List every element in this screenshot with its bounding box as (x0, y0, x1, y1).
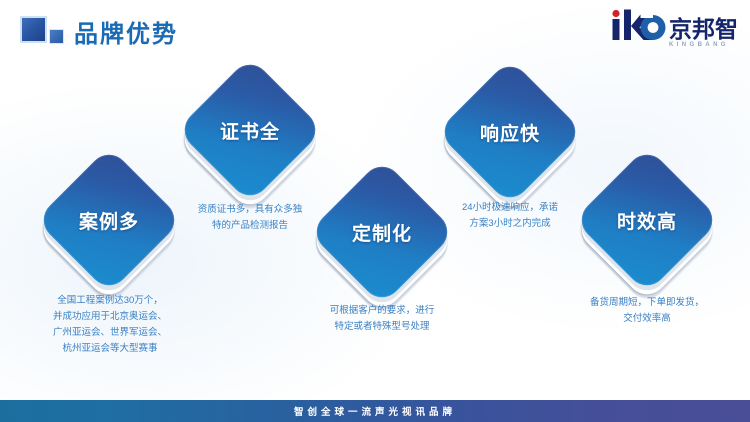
decor-square-small-icon (49, 29, 64, 44)
logo-name-cn: 京邦智 (669, 18, 738, 41)
footer-slogan: 智创全球一流声光视讯品牌 (294, 404, 456, 418)
card-label: 证书全 (198, 78, 302, 182)
brand-logo: 京邦智 KINGBANG (607, 14, 738, 48)
card-description: 可根据客户的要求，进行 特定或者特殊型号处理 (282, 303, 482, 335)
logo-name-en: KINGBANG (669, 42, 729, 48)
feature-card-delivery[interactable]: 时效高 (595, 168, 699, 272)
feature-card-certificates[interactable]: 证书全 (198, 78, 302, 182)
decor-square-large-icon (20, 16, 47, 43)
diamond-shape: 定制化 (330, 180, 434, 284)
logo-kb-icon (607, 9, 667, 41)
page-header: 品牌优势 京邦智 KINGBANG (0, 0, 750, 62)
page-title: 品牌优势 (74, 14, 178, 49)
diamond-shape: 证书全 (198, 78, 302, 182)
card-description: 24小时极速响应，承诺 方案3小时之内完成 (410, 200, 610, 232)
card-label: 时效高 (595, 168, 699, 272)
diamond-shape: 案例多 (57, 168, 161, 272)
feature-card-customization[interactable]: 定制化 (330, 180, 434, 284)
footer-bar: 智创全球一流声光视讯品牌 (0, 400, 750, 422)
feature-card-response[interactable]: 响应快 (458, 80, 562, 184)
card-label: 定制化 (330, 180, 434, 284)
diamond-shape: 时效高 (595, 168, 699, 272)
card-description: 全国工程案例达30万个， 并成功应用于北京奥运会、 广州亚运会、世界军运会、 杭… (0, 293, 220, 357)
diamond-shape: 响应快 (458, 80, 562, 184)
card-label: 响应快 (458, 80, 562, 184)
card-label: 案例多 (57, 168, 161, 272)
feature-card-cases[interactable]: 案例多 (57, 168, 161, 272)
card-description: 备货周期短，下单即发货， 交付效率高 (547, 295, 747, 327)
